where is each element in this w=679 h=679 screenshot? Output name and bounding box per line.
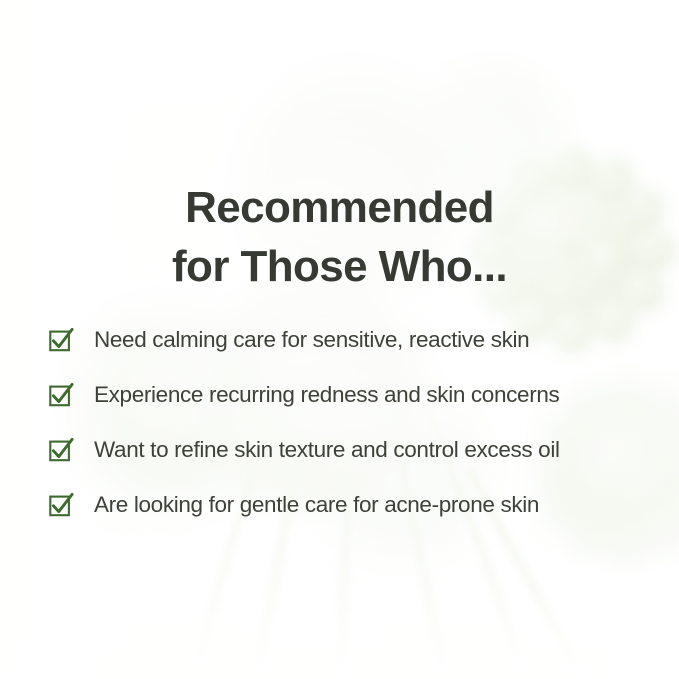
poster-content: Recommended for Those Who... Need calmin… xyxy=(0,0,679,679)
recommendation-poster: Recommended for Those Who... Need calmin… xyxy=(0,0,679,679)
list-item-label: Are looking for gentle care for acne-pro… xyxy=(94,491,539,518)
list-item: Are looking for gentle care for acne-pro… xyxy=(48,477,648,532)
list-item: Want to refine skin texture and control … xyxy=(48,422,648,477)
list-item-label: Want to refine skin texture and control … xyxy=(94,436,560,463)
checkbox-checked-icon xyxy=(48,327,74,353)
list-item-label: Need calming care for sensitive, reactiv… xyxy=(94,326,529,353)
list-item: Need calming care for sensitive, reactiv… xyxy=(48,312,648,367)
list-item: Experience recurring redness and skin co… xyxy=(48,367,648,422)
checkbox-checked-icon xyxy=(48,437,74,463)
checkbox-checked-icon xyxy=(48,492,74,518)
list-item-label: Experience recurring redness and skin co… xyxy=(94,381,559,408)
checkbox-checked-icon xyxy=(48,382,74,408)
page-title: Recommended for Those Who... xyxy=(0,179,679,297)
benefits-checklist: Need calming care for sensitive, reactiv… xyxy=(48,312,648,532)
